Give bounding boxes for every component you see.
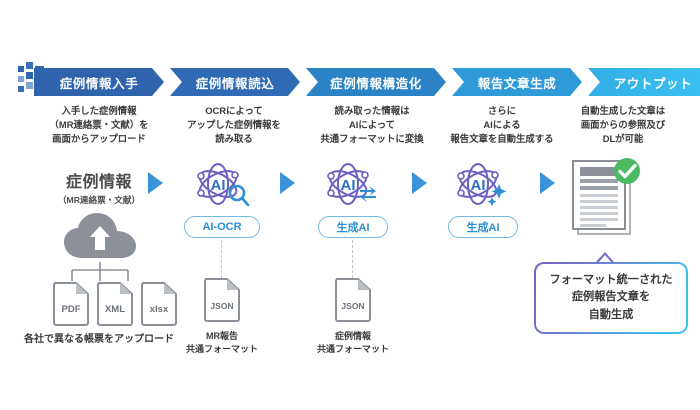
diagram-canvas: 症例情報入手 症例情報読込 症例情報構造化 報告文章生成 アウトプット 入手した… [0, 0, 700, 410]
source-caption: 各社で異なる帳票をアップロード [24, 330, 174, 345]
file-connector-lines [60, 262, 140, 282]
description-1-line-1: 入手した症例情報 [34, 104, 164, 118]
file-label-xlsx: xlsx [140, 304, 178, 315]
output-callout: フォーマット統一された 症例報告文章を 自動生成 [534, 262, 688, 334]
description-2-line-1: OCRによって [168, 104, 300, 118]
pdf-file-shape [52, 280, 90, 326]
json-output-1: JSON MR報告 共通フォーマット [176, 276, 268, 356]
xlsx-file-shape [140, 280, 178, 326]
description-2: OCRによって アップした症例情報を 読み取る [168, 104, 300, 146]
description-4-line-1: さらに [430, 104, 574, 118]
document-check-icon [566, 158, 642, 240]
description-4: さらに AIによる 報告文章を自動生成する [430, 104, 574, 146]
description-5: 自動生成した文章は 画面からの参照及び DLが可能 [558, 104, 688, 146]
callout-line-3: 自動生成 [549, 307, 672, 324]
json-output-2: JSON 症例情報 共通フォーマット [307, 276, 399, 356]
svg-text:AI: AI [341, 177, 356, 194]
json-caption-2-line-1: 症例情報 [307, 330, 399, 343]
ai-atom-sparkle-icon: AI [452, 162, 510, 210]
file-icon-xlsx: xlsx [140, 280, 178, 326]
xml-file-shape [96, 280, 134, 326]
json-caption-1-line-2: 共通フォーマット [176, 343, 268, 356]
source-heading: 症例情報 [34, 168, 164, 192]
arrow-4-icon [540, 172, 555, 194]
arrow-2-icon [280, 172, 295, 194]
json-caption-1-line-1: MR報告 [176, 330, 268, 343]
description-3-line-1: 読み取った情報は [300, 104, 444, 118]
description-2-line-3: 読み取る [168, 132, 300, 146]
pill-gen-ai-1-label: 生成AI [337, 219, 370, 235]
json-badge-1: JSON [210, 301, 233, 311]
description-3-line-3: 共通フォーマットに変換 [300, 132, 444, 146]
output-callout-body: フォーマット統一された 症例報告文章を 自動生成 [536, 264, 686, 332]
file-icon-pdf: PDF [52, 280, 90, 326]
description-5-line-1: 自動生成した文章は [558, 104, 688, 118]
pill-gen-ai-1[interactable]: 生成AI [318, 216, 388, 238]
dashed-connector-1 [221, 240, 222, 278]
file-label-xml: XML [96, 304, 134, 315]
file-icon-xml: XML [96, 280, 134, 326]
description-1-line-3: 画面からアップロード [34, 132, 164, 146]
pill-gen-ai-2-label: 生成AI [467, 219, 500, 235]
description-3-line-2: AIによって [300, 118, 444, 132]
banner-step-5[interactable]: アウトプット [588, 68, 700, 96]
banner-step-4-label: 報告文章生成 [478, 73, 557, 92]
pill-gen-ai-2[interactable]: 生成AI [448, 216, 518, 238]
description-5-line-3: DLが可能 [558, 132, 688, 146]
cloud-upload-icon [62, 212, 138, 264]
file-type-row: PDF XML xlsx [52, 280, 178, 326]
banner-step-1[interactable]: 症例情報入手 [34, 68, 164, 96]
callout-line-1: フォーマット統一された [549, 272, 672, 289]
json-file-icon: JSON [203, 276, 241, 322]
description-3: 読み取った情報は AIによって 共通フォーマットに変換 [300, 104, 444, 146]
process-banner: 症例情報入手 症例情報読込 症例情報構造化 報告文章生成 アウトプット [34, 68, 682, 96]
svg-text:AI: AI [471, 177, 486, 194]
json-badge-2: JSON [341, 301, 364, 311]
ai-atom-search-icon: AI [192, 162, 250, 210]
banner-step-3[interactable]: 症例情報構造化 [306, 68, 446, 96]
callout-line-2: 症例報告文章を [549, 289, 672, 306]
svg-text:AI: AI [211, 177, 226, 194]
json-file-icon: JSON [334, 276, 372, 322]
description-4-line-3: 報告文章を自動生成する [430, 132, 574, 146]
banner-step-2[interactable]: 症例情報読込 [170, 68, 300, 96]
json-caption-1: MR報告 共通フォーマット [176, 330, 268, 356]
source-heading-group: 症例情報 （MR連絡票・文献） [34, 168, 164, 206]
banner-step-5-label: アウトプット [614, 73, 693, 92]
description-1-line-2: （MR連絡票・文献）を [34, 118, 164, 132]
pill-ai-ocr[interactable]: AI-OCR [184, 216, 260, 238]
file-label-pdf: PDF [52, 304, 90, 315]
arrow-3-icon [412, 172, 427, 194]
banner-step-3-label: 症例情報構造化 [330, 73, 422, 92]
arrow-1-icon [148, 172, 163, 194]
ai-atom-sync-icon: AI [322, 162, 380, 210]
source-subheading: （MR連絡票・文献） [34, 194, 164, 206]
banner-step-4[interactable]: 報告文章生成 [452, 68, 582, 96]
banner-step-1-label: 症例情報入手 [60, 73, 139, 92]
json-caption-2: 症例情報 共通フォーマット [307, 330, 399, 356]
banner-step-2-label: 症例情報読込 [196, 73, 275, 92]
pill-ai-ocr-label: AI-OCR [202, 221, 241, 233]
json-caption-2-line-2: 共通フォーマット [307, 343, 399, 356]
description-5-line-2: 画面からの参照及び [558, 118, 688, 132]
dashed-connector-2 [352, 240, 353, 278]
description-1: 入手した症例情報 （MR連絡票・文献）を 画面からアップロード [34, 104, 164, 146]
description-4-line-2: AIによる [430, 118, 574, 132]
description-2-line-2: アップした症例情報を [168, 118, 300, 132]
